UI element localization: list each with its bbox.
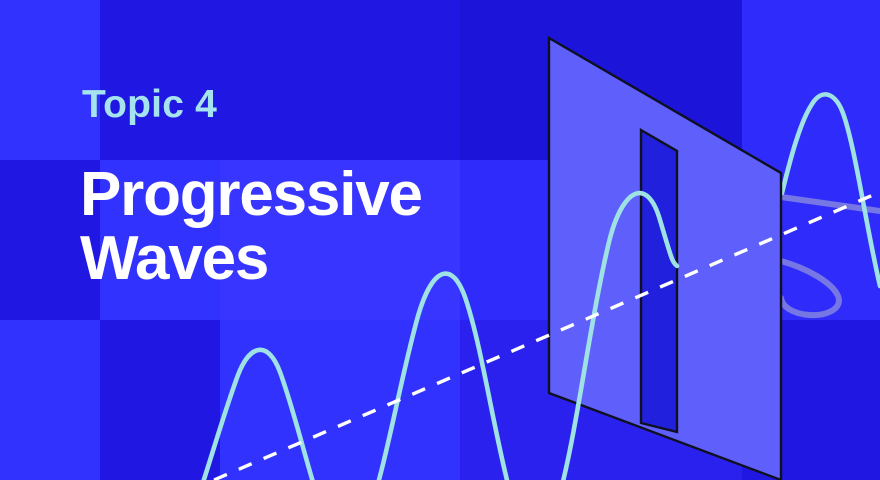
diffraction-illustration — [0, 0, 880, 480]
title-card-canvas: Topic 4 Progressive Waves — [0, 0, 880, 480]
transmitted-wave-curve — [782, 94, 880, 286]
ghost-loop-curve — [781, 261, 839, 315]
